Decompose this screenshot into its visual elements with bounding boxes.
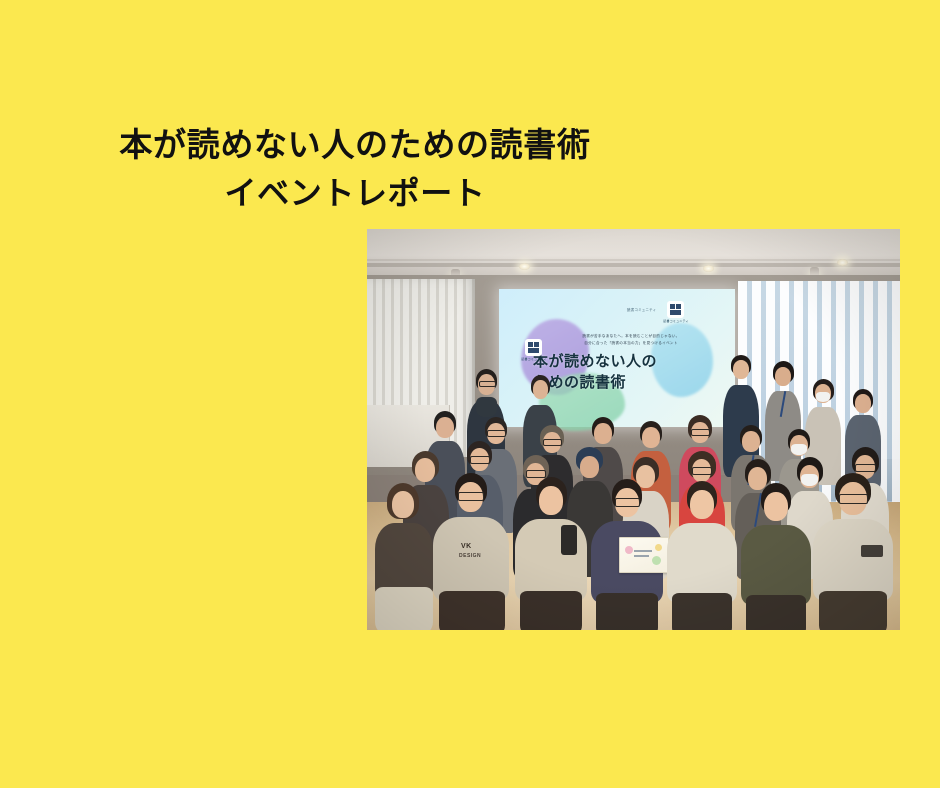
slide-logo-caption-secondary: 読書コミュニティ <box>517 357 551 361</box>
pocket <box>861 545 883 557</box>
page-title: 本が読めない人のための読書術 イベントレポート <box>0 124 700 214</box>
head <box>539 486 563 515</box>
downlight-icon <box>519 263 530 270</box>
leaflet-text-line <box>634 550 652 552</box>
person-front-7 <box>813 473 893 630</box>
head <box>855 394 871 413</box>
slide-logo-wide-caption: 読書コミュニティ <box>627 307 656 312</box>
head <box>415 458 435 482</box>
torso <box>813 519 893 601</box>
head <box>733 360 749 379</box>
head <box>594 423 612 444</box>
head <box>533 380 548 399</box>
person-front-3 <box>515 477 587 630</box>
bag-strap <box>561 525 577 555</box>
head <box>742 431 760 452</box>
glasses-icon <box>691 429 710 436</box>
head <box>436 417 454 438</box>
ceiling <box>367 229 900 277</box>
face-mask <box>791 444 807 455</box>
slide-logo-icon-secondary <box>525 339 542 356</box>
torso <box>741 525 811 605</box>
held-leaflet <box>619 537 669 573</box>
leaflet-dot-yellow <box>655 544 662 551</box>
head <box>690 490 714 519</box>
ceiling-rail-secondary <box>367 259 900 261</box>
legs <box>439 591 505 630</box>
person-front-1 <box>375 483 433 630</box>
hoodie-logo-sub: DESIGN <box>459 553 481 559</box>
glasses-icon <box>855 464 876 472</box>
leaflet-dot-green <box>652 556 661 565</box>
torso <box>433 517 509 601</box>
leaflet-dot-pink <box>625 546 633 554</box>
downlight-icon <box>703 265 714 272</box>
person-front-4 <box>591 479 663 630</box>
glasses-icon <box>543 439 562 446</box>
legs <box>819 591 887 630</box>
scarf <box>476 397 497 417</box>
legs <box>746 595 806 630</box>
slide-logo-caption: 読書コミュニティ <box>659 319 693 323</box>
glasses-icon <box>692 467 712 475</box>
title-line-1: 本が読めない人のための読書術 <box>0 124 700 166</box>
legs <box>375 587 433 630</box>
head <box>642 427 660 448</box>
hoodie-logo: VK <box>461 543 472 550</box>
glasses-icon <box>458 492 484 501</box>
legs <box>596 593 658 630</box>
head <box>580 456 599 478</box>
person-front-2: VK DESIGN <box>433 473 509 630</box>
person-front-5 <box>667 481 737 630</box>
head <box>775 367 791 386</box>
glasses-icon <box>470 456 490 464</box>
slide-title: 本が読めない人の ための読書術 <box>533 351 733 394</box>
glasses-icon <box>479 381 496 387</box>
slide-logo-icon <box>667 301 684 318</box>
person-front-6 <box>741 483 811 630</box>
torso <box>667 523 737 603</box>
head <box>392 491 414 518</box>
glasses-icon <box>839 494 868 504</box>
glasses-icon <box>487 430 506 437</box>
title-line-2: イベントレポート <box>0 173 700 214</box>
slide-canvas: 本が読めない人のための読書術 イベントレポート 読書が苦手なあなたへ。本を読むこ… <box>0 0 940 788</box>
leaflet-text-line <box>634 555 649 557</box>
downlight-icon <box>837 259 848 266</box>
slide-subtitle: 読書が苦手なあなたへ。本を読むことが目的じゃない。 自分に合った「読書の本当の力… <box>555 333 707 347</box>
glasses-icon <box>615 498 640 507</box>
group-photo: 読書が苦手なあなたへ。本を読むことが目的じゃない。 自分に合った「読書の本当の力… <box>367 229 900 630</box>
face-mask <box>816 392 830 402</box>
legs <box>520 591 582 630</box>
legs <box>672 593 732 630</box>
head <box>764 492 788 521</box>
ceiling-rail <box>367 263 900 267</box>
